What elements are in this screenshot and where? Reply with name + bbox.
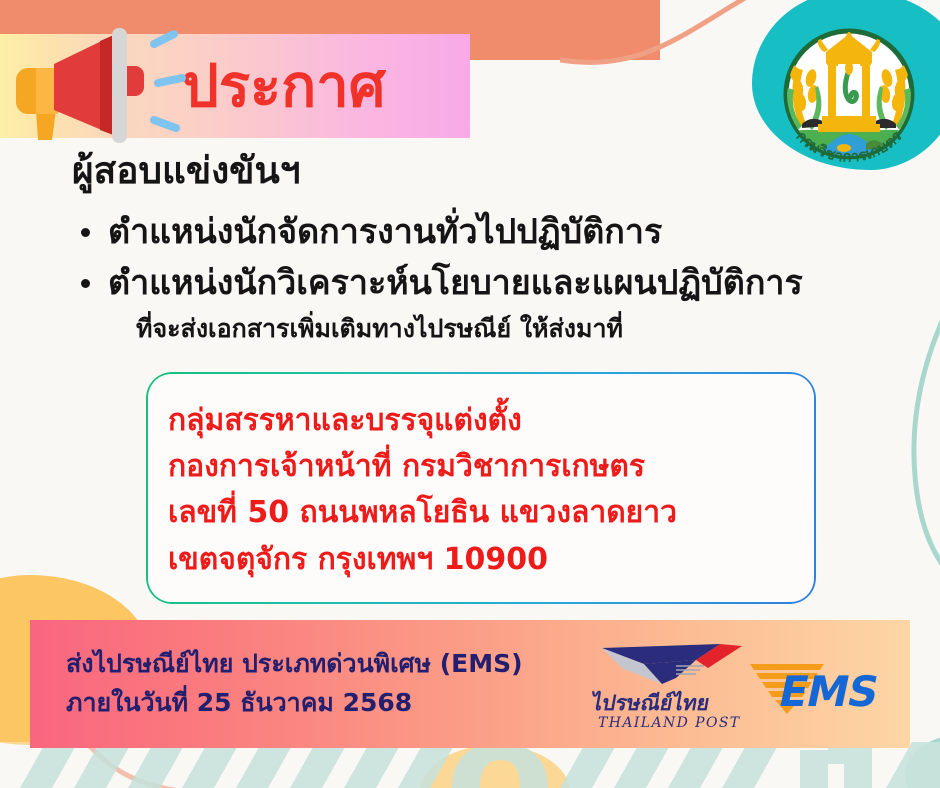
megaphone-icon [8,28,188,143]
position-list: ตำแหน่งนักจัดการงานทั่วไปปฏิบัติการ ตำแห… [108,207,940,309]
shipping-line: ภายในวันที่ 25 ธันวาคม 2568 [66,684,523,723]
position-label: ตำแหน่งนักจัดการงานทั่วไปปฏิบัติการ [108,212,662,252]
teal-blob-bottom-right [905,735,940,788]
address-line: กลุ่มสรรหาและบรรจุแต่งตั้ง [168,398,816,444]
address-box: กลุ่มสรรหาและบรรจุแต่งตั้ง กองการเจ้าหน้… [146,372,816,604]
thailand-post-icon [602,644,742,684]
list-item: ตำแหน่งนักจัดการงานทั่วไปปฏิบัติการ [108,207,940,258]
applicants-heading: ผู้สอบแข่งขันฯ [72,150,940,193]
announcement-body: ผู้สอบแข่งขันฯ ตำแหน่งนักจัดการงานทั่วไป… [0,150,940,345]
announcement-poster: ประกาศ [0,0,940,788]
courier-logos: ไปรษณีย์ไทย THAILAND POST EMS [592,634,882,734]
bullet-icon [81,279,90,288]
thailand-post-thai-name: ไปรษณีย์ไทย [592,690,712,715]
instruction-subline: ที่จะส่งเอกสารเพิ่มเติมทางไปรษณีย์ ให้ส่… [136,313,940,346]
list-item: ตำแหน่งนักวิเคราะห์นโยบายและแผนปฏิบัติกา… [108,258,940,309]
bottom-watermark [0,742,940,788]
amber-blob-bottom [420,745,570,788]
address-line: เลขที่ 50 ถนนพหลโยธิน แขวงลาดยาว [168,490,816,536]
shipping-text: ส่งไปรษณีย์ไทย ประเภทด่วนพิเศษ (EMS) ภาย… [66,645,523,723]
shipping-banner: ส่งไปรษณีย์ไทย ประเภทด่วนพิเศษ (EMS) ภาย… [30,620,910,748]
address-line: เขตจตุจักร กรุงเทพฯ 10900 [168,537,816,583]
address-line: กองการเจ้าหน้าที่ กรมวิชาการเกษตร [168,444,816,490]
page-title: ประกาศ [182,57,386,115]
ems-label: EMS [774,668,882,716]
bullet-icon [81,228,90,237]
shipping-line: ส่งไปรษณีย์ไทย ประเภทด่วนพิเศษ (EMS) [66,645,523,684]
thailand-post-english-name: THAILAND POST [598,715,741,731]
position-label: ตำแหน่งนักวิเคราะห์นโยบายและแผนปฏิบัติกา… [108,263,803,303]
